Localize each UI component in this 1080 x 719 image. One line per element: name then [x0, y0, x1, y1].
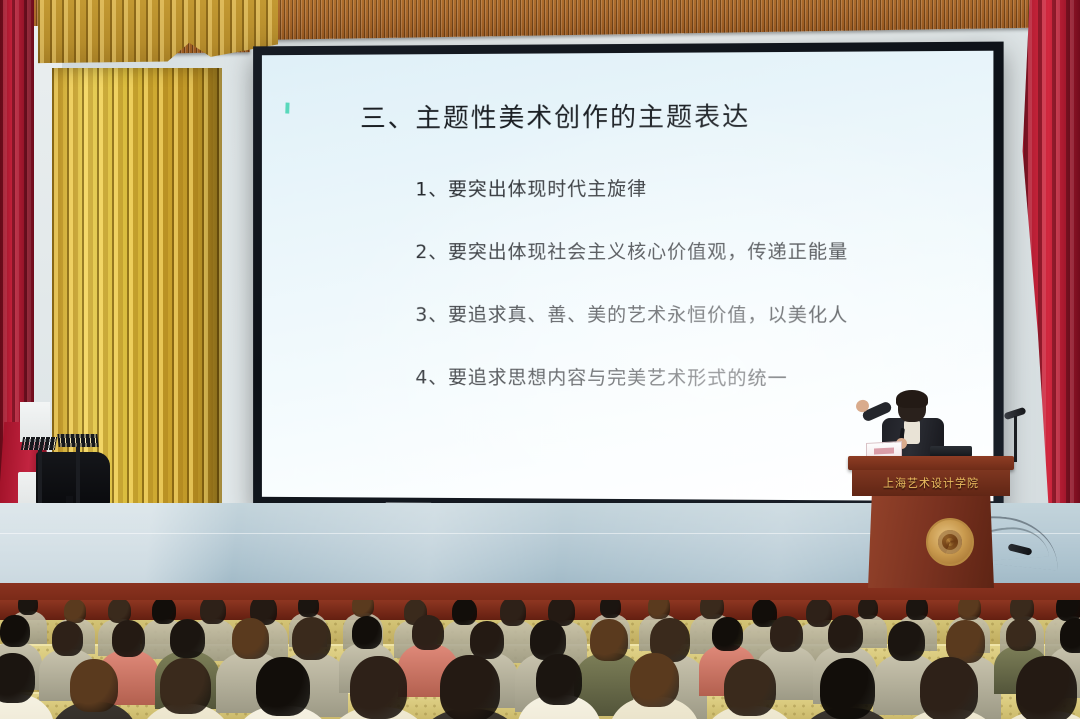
audience-member-head: [292, 617, 331, 660]
audience-member-head: [0, 653, 35, 703]
audience-member-head: [232, 618, 269, 659]
institution-emblem-icon: [926, 518, 974, 566]
audience-member-head: [160, 658, 211, 714]
audience-member-head: [828, 615, 863, 653]
audience-member-head: [352, 616, 382, 649]
piano: [36, 452, 110, 504]
audience-member-head: [112, 620, 145, 657]
audience-member-head: [1016, 656, 1077, 719]
audience-member-head: [64, 600, 86, 623]
audience-member-head: [452, 600, 477, 625]
audience-member-head: [52, 621, 83, 656]
audience-member-head: [630, 653, 679, 707]
audience-member-head: [0, 615, 30, 647]
audience-member-head: [806, 600, 832, 627]
audience-member-head: [298, 600, 319, 617]
audience-area: [0, 600, 1080, 719]
slide-bullet-2: 2、要突出体现社会主义核心价值观，传递正能量: [415, 237, 940, 264]
speaker-hair: [896, 390, 928, 408]
slide-bullet-4: 4、要追求思想内容与完美艺术形式的统一: [415, 363, 940, 391]
music-stand: [21, 437, 57, 450]
red-side-curtain-left: [0, 0, 34, 532]
slide-bullet-1: 1、要突出体现时代主旋律: [415, 173, 940, 201]
audience-member-head: [152, 600, 176, 624]
audience-member-head: [500, 600, 526, 626]
audience-member-head: [170, 619, 205, 658]
podium-nameplate: 上海艺术设计学院: [852, 470, 1010, 496]
audience-member-head: [412, 615, 444, 650]
audience-member-head: [820, 658, 875, 719]
slide-bullet-3: 3、要追求真、善、美的艺术永恒价值，以美化人: [415, 300, 940, 328]
audience-member-head: [18, 600, 38, 615]
audience-member-head: [200, 600, 226, 624]
slide-title: 三、主题性美术创作的主题表达: [360, 95, 940, 135]
podium-with-speaker: 上海艺术设计学院: [846, 388, 1022, 588]
audience-member-head: [648, 600, 670, 619]
podium-front-panel: [868, 496, 994, 588]
audience-member-head: [920, 657, 978, 719]
music-stand: [57, 434, 98, 447]
podium-nameplate-text: 上海艺术设计学院: [883, 475, 979, 492]
audience-member-head: [1060, 618, 1080, 653]
audience-member-head: [590, 619, 628, 661]
auditorium-photograph: 三、主题性美术创作的主题表达 1、要突出体现时代主旋律 2、要突出体现社会主义核…: [0, 0, 1080, 719]
audience-member-head: [536, 654, 582, 705]
audience-member-head: [600, 600, 621, 618]
audience-member-head: [440, 655, 500, 719]
audience-member-head: [906, 600, 928, 620]
audience-member-head: [770, 616, 803, 652]
podium-top-surface: [848, 456, 1014, 470]
wall-panel-box: [20, 402, 50, 442]
spiral-motif-icon: [938, 530, 962, 554]
audience-member-head: [888, 621, 925, 661]
audience-member-head: [858, 600, 878, 619]
slide-bullet-list: 1、要突出体现时代主旋律 2、要突出体现社会主义核心价值观，传递正能量 3、要追…: [415, 173, 940, 391]
audience-member-head: [256, 657, 310, 716]
audience-member-head: [724, 659, 776, 716]
audience-member-head: [470, 621, 504, 659]
audience-member-head: [958, 600, 981, 620]
audience-member-head: [712, 617, 743, 651]
audience-member-head: [1006, 619, 1036, 651]
audience-member-head: [1010, 600, 1034, 621]
audience-member-head: [70, 659, 118, 712]
audience-member-head: [700, 600, 724, 619]
audience-member-head: [352, 600, 374, 617]
audience-member-head: [350, 656, 407, 719]
gooseneck-microphone-stand: [1014, 416, 1017, 462]
